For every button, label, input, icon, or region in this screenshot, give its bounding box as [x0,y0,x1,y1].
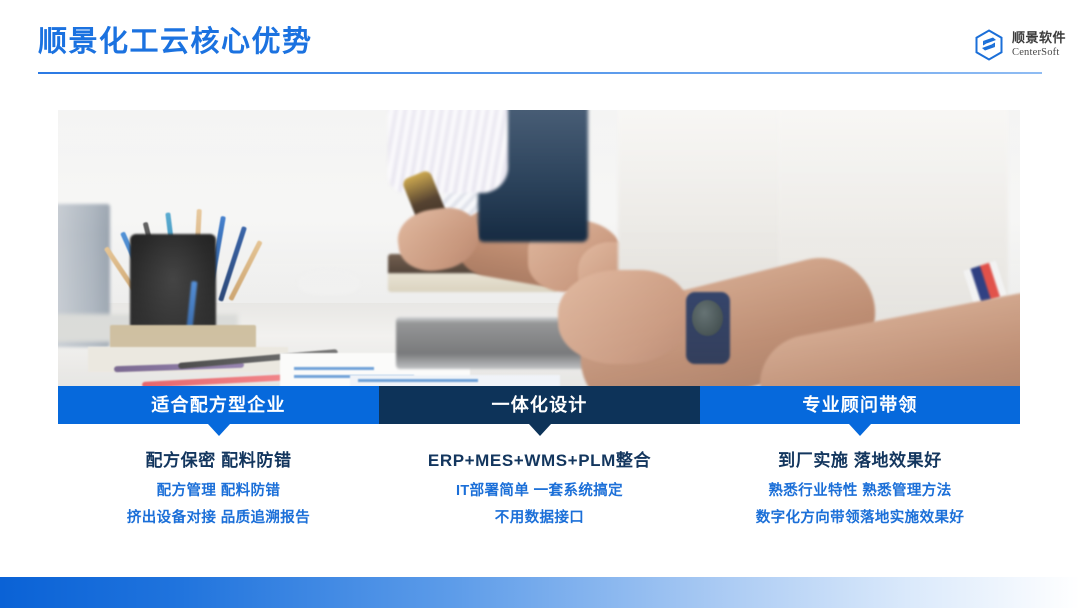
slide-header: 顺景化工云核心优势 顺景软件 CenterSoft [0,0,1080,92]
hero-photo-scene [58,110,1020,386]
brand-logo: 顺景软件 CenterSoft [973,29,1066,61]
feature-line-0-0: 配方管理 配料防错 [58,479,379,504]
feature-banner-0[interactable]: 适合配方型企业 [58,386,379,424]
feature-banner-2[interactable]: 专业顾问带领 [700,386,1020,424]
banner-notch-icon-1 [529,424,551,436]
feature-line-1-1: 不用数据接口 [379,506,700,531]
banner-notch-icon-2 [849,424,871,436]
feature-banner-label-2: 专业顾问带领 [802,386,917,424]
page-title: 顺景化工云核心优势 [38,24,313,60]
feature-column-2: 到厂实施 落地效果好 熟悉行业特性 熟悉管理方法 数字化方向带领落地实施效果好 [700,448,1020,531]
feature-column-0: 配方保密 配料防错 配方管理 配料防错 挤出设备对接 品质追溯报告 [58,448,379,531]
feature-heading-1: ERP+MES+WMS+PLM整合 [379,448,700,474]
feature-banner-1[interactable]: 一体化设计 [379,386,700,424]
logo-wordmark: 顺景软件 CenterSoft [1012,32,1066,59]
feature-line-2-1: 数字化方向带领落地实施效果好 [700,506,1020,531]
feature-heading-2: 到厂实施 落地效果好 [700,448,1020,474]
feature-column-1: ERP+MES+WMS+PLM整合 IT部署简单 一套系统搞定 不用数据接口 [379,448,700,531]
hexagon-s-logo-icon [973,29,1005,61]
hero-photo [58,110,1020,386]
feature-line-0-1: 挤出设备对接 品质追溯报告 [58,506,379,531]
footer-gradient-bar [0,577,1080,608]
feature-banner-label-0: 适合配方型企业 [151,386,285,424]
feature-banner-label-1: 一体化设计 [492,386,588,424]
feature-line-1-0: IT部署简单 一套系统搞定 [379,479,700,504]
banner-notch-icon-0 [208,424,230,436]
feature-banner-row: 适合配方型企业 一体化设计 专业顾问带领 [58,386,1020,424]
title-divider [38,72,1042,74]
logo-name-cn: 顺景软件 [1012,32,1066,45]
slide: 顺景化工云核心优势 顺景软件 CenterSoft [0,0,1080,608]
feature-line-2-0: 熟悉行业特性 熟悉管理方法 [700,479,1020,504]
feature-heading-0: 配方保密 配料防错 [58,448,379,474]
logo-name-en: CenterSoft [1012,48,1066,59]
